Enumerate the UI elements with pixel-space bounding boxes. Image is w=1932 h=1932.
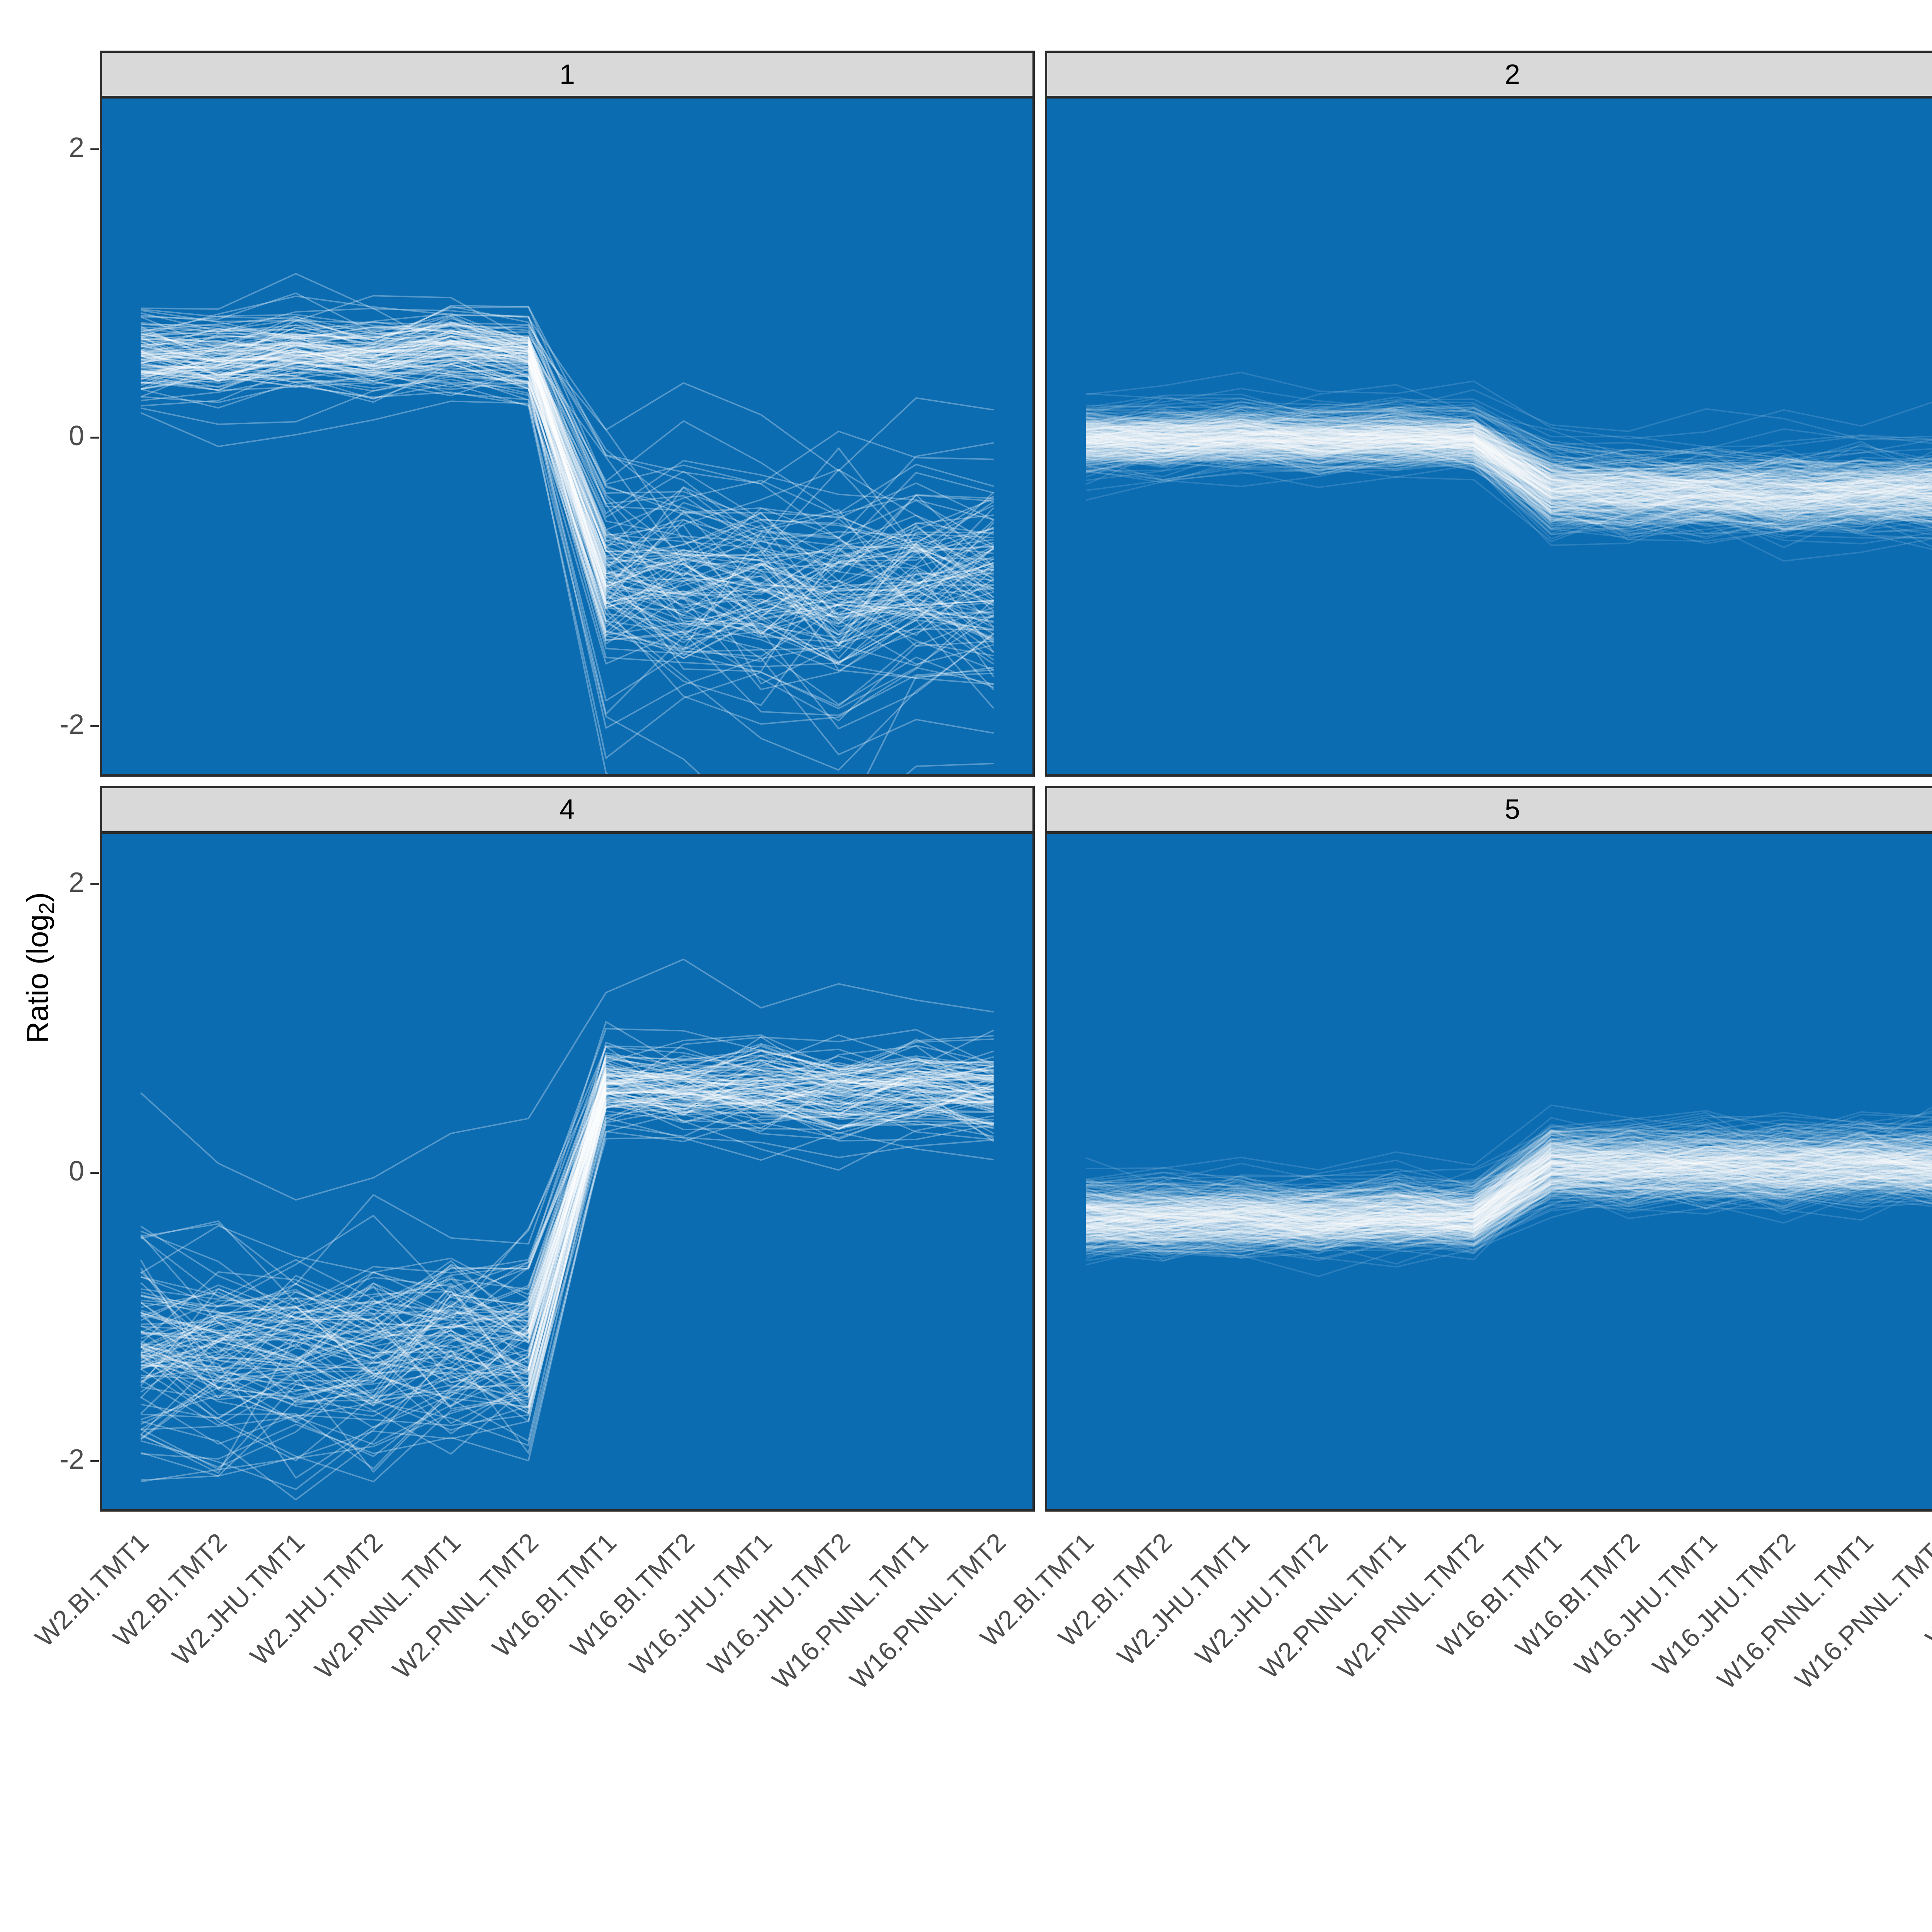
- profile-lines: [102, 834, 1032, 1510]
- profile-lines: [1047, 834, 1932, 1510]
- y-tick-label: 0: [0, 422, 84, 450]
- facet-strip-label: 4: [100, 786, 1035, 834]
- figure-root: Ratio (log2) 20-220-2 123456 W2.BI.TMT1W…: [0, 0, 1932, 1855]
- facet-panel-4: 4: [100, 786, 1035, 1512]
- y-tick-mark: [90, 725, 99, 727]
- y-tick-mark: [90, 148, 99, 150]
- y-tick-label: 2: [0, 134, 84, 162]
- y-tick-mark: [90, 437, 99, 439]
- facet-panel-5: 5: [1045, 786, 1932, 1512]
- y-axis-title-text: Ratio (log: [20, 914, 54, 1043]
- facet-panel-2: 2: [1045, 51, 1932, 777]
- y-tick-label: -2: [0, 1446, 84, 1473]
- y-tick-label: 2: [0, 869, 84, 896]
- facet-strip-label: 5: [1045, 786, 1932, 834]
- y-tick-mark: [90, 1460, 99, 1462]
- facet-panel-1: 1: [100, 51, 1035, 777]
- y-tick-mark: [90, 883, 99, 885]
- facet-plot-area: [1045, 99, 1932, 777]
- facet-plot-area: [1045, 834, 1932, 1512]
- y-tick-mark: [90, 1172, 99, 1174]
- facet-plot-area: [100, 834, 1035, 1512]
- facet-strip-label: 2: [1045, 51, 1932, 99]
- y-axis-title-subscript: 2: [34, 902, 59, 914]
- y-tick-label: 0: [0, 1157, 84, 1185]
- profile-lines: [1047, 99, 1932, 774]
- facet-grid: 123456: [100, 51, 1932, 1512]
- facet-plot-area: [100, 99, 1035, 777]
- profile-lines: [102, 99, 1032, 774]
- facet-strip-label: 1: [100, 51, 1035, 99]
- y-tick-label: -2: [0, 711, 84, 738]
